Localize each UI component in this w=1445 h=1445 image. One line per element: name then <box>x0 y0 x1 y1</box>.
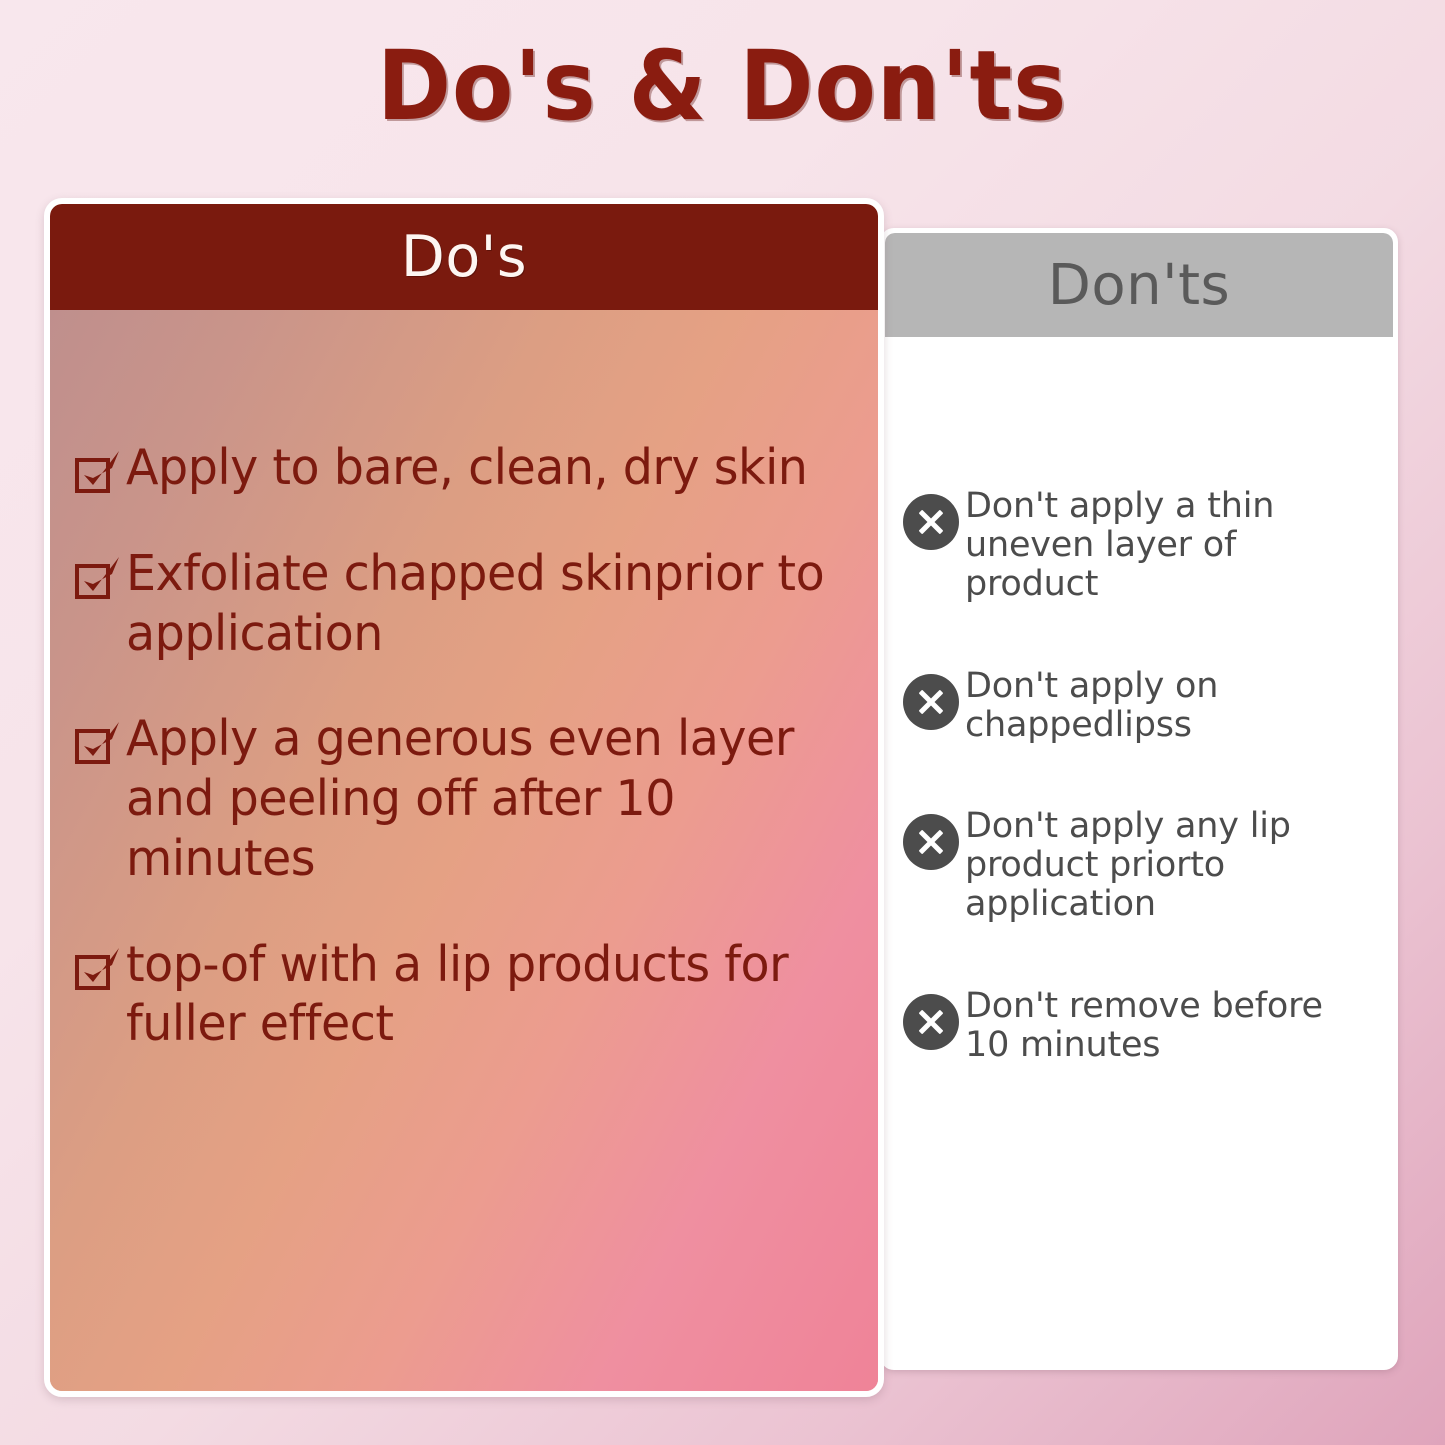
donts-card: Don'ts Don't apply a thin uneven layer o… <box>880 228 1398 1370</box>
list-item: Don't apply on chappedlipss <box>903 665 1371 745</box>
list-item: Exfoliate chapped skinprior to applicati… <box>74 544 854 664</box>
list-item-label: Exfoliate chapped skinprior to applicati… <box>126 544 832 664</box>
infographic-poster: Do's & Don'ts Don'ts Don't apply a thin … <box>0 0 1445 1445</box>
list-item-label: Apply a generous even layer and peeling … <box>126 709 832 888</box>
checkbox-checked-icon <box>74 448 122 496</box>
page-title-container: Do's & Don'ts <box>0 36 1445 137</box>
donts-header-label: Don'ts <box>1048 253 1230 318</box>
list-item: top-of with a lip products for fuller ef… <box>74 935 854 1055</box>
dos-header: Do's <box>50 204 878 310</box>
circle-x-icon <box>903 994 959 1050</box>
checkbox-checked-icon <box>74 719 122 767</box>
dos-list: Apply to bare, clean, dry skin Exfoliate… <box>50 310 878 1391</box>
page-title: Do's & Don'ts <box>377 36 1067 137</box>
dos-card: Do's Apply to bare, clean, dry skin <box>44 198 884 1397</box>
checkbox-checked-icon <box>74 945 122 993</box>
donts-header: Don'ts <box>885 233 1393 337</box>
checkbox-checked-icon <box>74 554 122 602</box>
circle-x-icon <box>903 814 959 870</box>
donts-list: Don't apply a thin uneven layer of produ… <box>885 337 1393 1365</box>
circle-x-icon <box>903 674 959 730</box>
list-item-label: Don't remove before 10 minutes <box>965 985 1371 1065</box>
list-item-label: Don't apply on chappedlipss <box>965 665 1371 745</box>
list-item-label: top-of with a lip products for fuller ef… <box>126 935 832 1055</box>
list-item: Apply to bare, clean, dry skin <box>74 438 854 498</box>
dos-header-label: Do's <box>401 224 527 290</box>
list-item: Apply a generous even layer and peeling … <box>74 709 854 888</box>
list-item: Don't apply any lip product priorto appl… <box>903 805 1371 925</box>
list-item-label: Apply to bare, clean, dry skin <box>126 438 807 498</box>
list-item: Don't remove before 10 minutes <box>903 985 1371 1065</box>
list-item-label: Don't apply a thin uneven layer of produ… <box>965 485 1371 605</box>
circle-x-icon <box>903 494 959 550</box>
list-item-label: Don't apply any lip product priorto appl… <box>965 805 1371 925</box>
list-item: Don't apply a thin uneven layer of produ… <box>903 485 1371 605</box>
